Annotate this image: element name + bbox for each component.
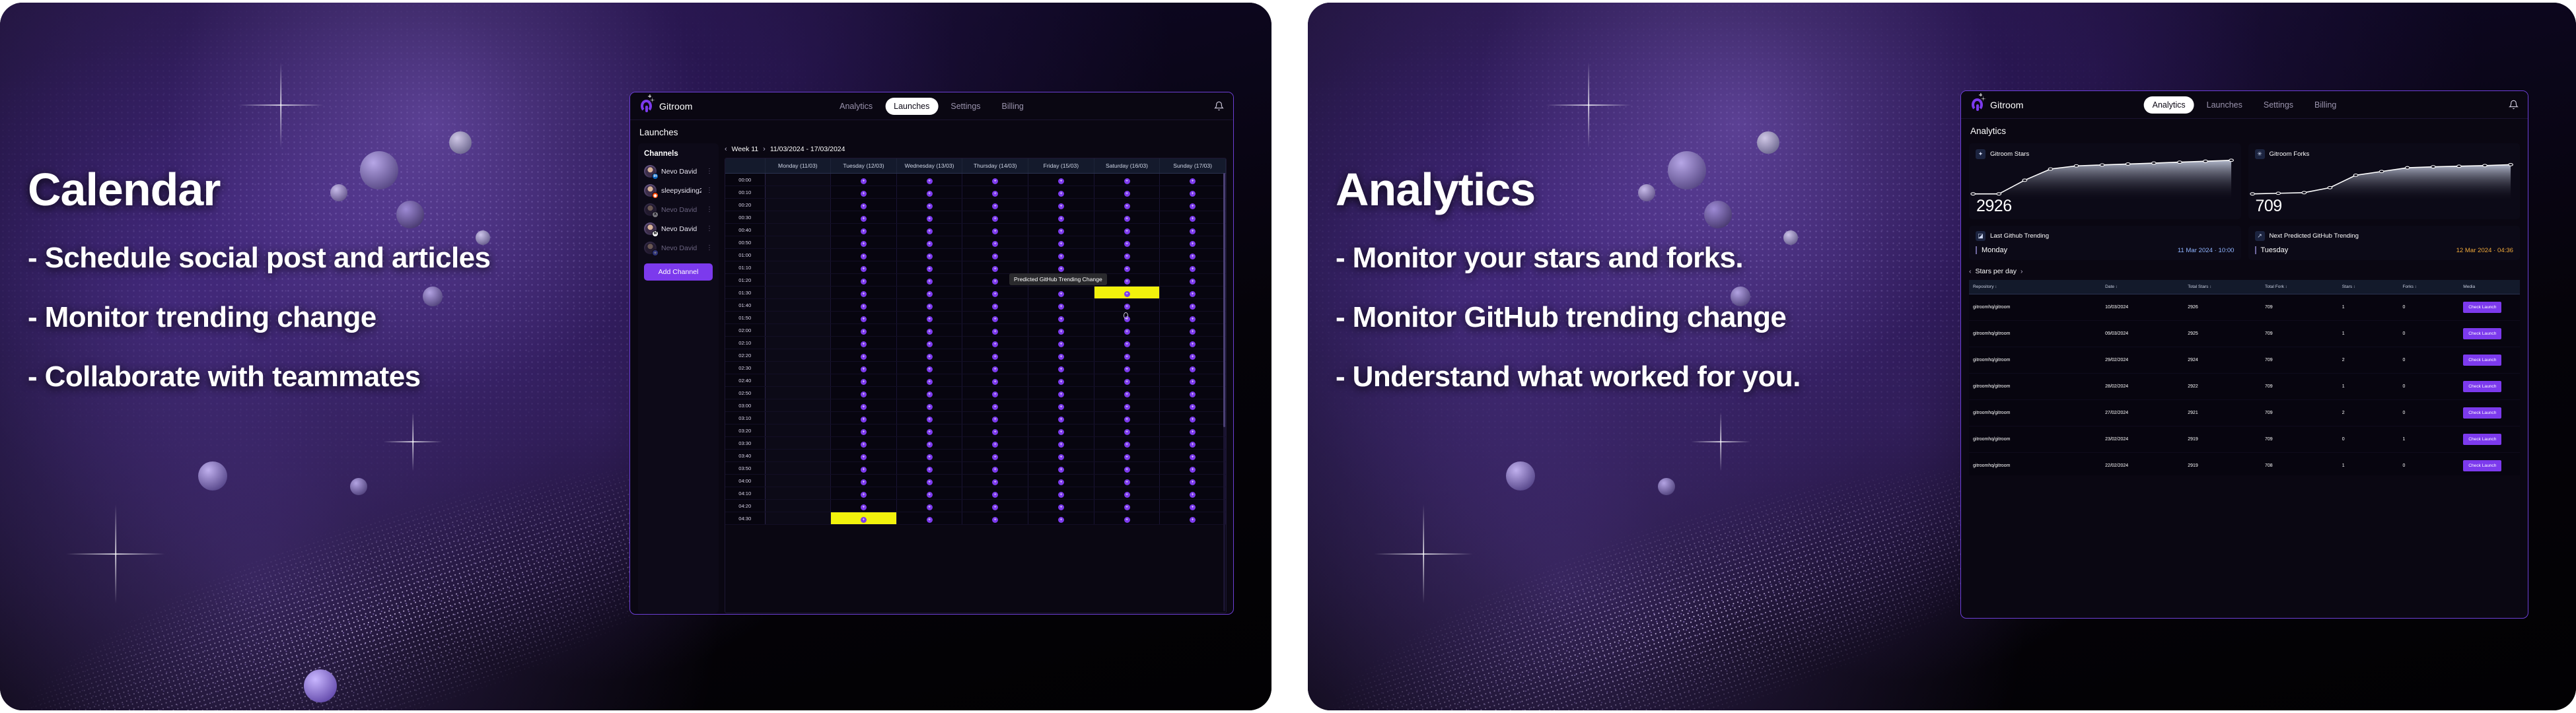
add-post-icon[interactable]: + [992, 479, 998, 485]
calendar-slot[interactable]: + [1160, 374, 1226, 387]
add-post-icon[interactable]: + [1124, 241, 1130, 247]
add-post-icon[interactable]: + [927, 391, 933, 397]
calendar-slot[interactable]: + [1094, 261, 1160, 274]
calendar-slot[interactable]: + [831, 399, 897, 412]
calendar-slot[interactable]: + [1028, 312, 1094, 324]
add-post-icon[interactable]: + [927, 492, 933, 498]
calendar-slot[interactable]: + [896, 374, 962, 387]
calendar-slot[interactable]: + [1160, 299, 1226, 312]
calendar-slot[interactable]: + [831, 437, 897, 450]
add-post-icon[interactable]: + [1190, 341, 1196, 347]
add-post-icon[interactable]: + [1190, 504, 1196, 510]
calendar-slot[interactable]: + [1028, 374, 1094, 387]
add-post-icon[interactable]: + [992, 216, 998, 222]
calendar-slot[interactable]: + [962, 362, 1028, 374]
calendar-slot[interactable]: + [1160, 349, 1226, 362]
calendar-slot[interactable]: + [962, 287, 1028, 299]
calendar-slot[interactable]: + [962, 211, 1028, 224]
calendar-slot[interactable]: + [1160, 475, 1226, 487]
calendar-slot[interactable]: + [1028, 236, 1094, 249]
add-post-icon[interactable]: + [1190, 517, 1196, 523]
add-post-icon[interactable]: + [861, 241, 867, 247]
channel-menu-icon[interactable]: ⋮ [706, 188, 713, 193]
add-channel-button[interactable]: Add Channel [644, 263, 713, 281]
add-post-icon[interactable]: + [1124, 454, 1130, 460]
calendar-slot[interactable]: + [1094, 324, 1160, 337]
add-post-icon[interactable]: + [992, 454, 998, 460]
calendar-slot[interactable]: + [831, 186, 897, 199]
add-post-icon[interactable]: + [861, 467, 867, 473]
calendar-slot[interactable]: + [962, 462, 1028, 475]
calendar-slot[interactable] [765, 349, 831, 362]
add-post-icon[interactable]: + [1124, 379, 1130, 385]
calendar-slot[interactable]: + [1160, 437, 1226, 450]
calendar-slot[interactable]: + [831, 312, 897, 324]
add-post-icon[interactable]: + [992, 467, 998, 473]
calendar-slot[interactable]: + [831, 249, 897, 261]
calendar-slot[interactable]: + [1094, 299, 1160, 312]
calendar-slot[interactable]: + [831, 261, 897, 274]
add-post-icon[interactable]: + [1058, 479, 1064, 485]
column-header-total-stars[interactable]: Total Stars ↕ [2184, 280, 2261, 294]
calendar-slot[interactable]: + [1160, 249, 1226, 261]
add-post-icon[interactable]: + [861, 366, 867, 372]
add-post-icon[interactable]: + [927, 479, 933, 485]
notifications-button[interactable] [2509, 100, 2519, 110]
calendar-slot[interactable]: + [896, 236, 962, 249]
add-post-icon[interactable]: + [1124, 329, 1130, 335]
calendar-slot[interactable]: + [1160, 312, 1226, 324]
add-post-icon[interactable]: + [1058, 203, 1064, 209]
add-post-icon[interactable]: + [861, 417, 867, 423]
column-header-stars[interactable]: Stars ↕ [2338, 280, 2399, 294]
add-post-icon[interactable]: + [1058, 216, 1064, 222]
add-post-icon[interactable]: + [1190, 429, 1196, 435]
add-post-icon[interactable]: + [1190, 291, 1196, 297]
calendar-slot[interactable]: + [896, 211, 962, 224]
calendar-slot[interactable]: + [831, 424, 897, 437]
calendar-slot[interactable]: + [896, 174, 962, 186]
calendar-slot[interactable]: + [962, 412, 1028, 424]
calendar-slot[interactable]: + [1160, 261, 1226, 274]
calendar-slot[interactable] [765, 312, 831, 324]
add-post-icon[interactable]: + [992, 379, 998, 385]
calendar-slot[interactable]: + [962, 186, 1028, 199]
calendar-slot[interactable]: + [1160, 274, 1226, 287]
calendar-slot[interactable] [765, 475, 831, 487]
add-post-icon[interactable]: + [1190, 266, 1196, 272]
calendar-slot[interactable]: + [1028, 450, 1094, 462]
calendar-slot[interactable] [765, 249, 831, 261]
add-post-icon[interactable]: + [992, 329, 998, 335]
add-post-icon[interactable]: + [861, 279, 867, 285]
add-post-icon[interactable]: + [927, 379, 933, 385]
calendar-slot[interactable]: + [1160, 399, 1226, 412]
add-post-icon[interactable]: + [1124, 279, 1130, 285]
calendar-slot[interactable] [765, 236, 831, 249]
calendar-slot[interactable] [765, 324, 831, 337]
add-post-icon[interactable]: + [1058, 417, 1064, 423]
calendar-slot[interactable]: + [896, 199, 962, 211]
calendar-slot[interactable]: + [831, 299, 897, 312]
add-post-icon[interactable]: + [1058, 304, 1064, 310]
chevron-left-icon[interactable]: ‹ [1969, 267, 1972, 275]
calendar-slot[interactable]: + [896, 475, 962, 487]
calendar-slot[interactable]: + [896, 487, 962, 500]
add-post-icon[interactable]: + [927, 291, 933, 297]
add-post-icon[interactable]: + [992, 228, 998, 234]
add-post-icon[interactable]: + [1124, 266, 1130, 272]
calendar-slot[interactable]: + [1160, 337, 1226, 349]
add-post-icon[interactable]: + [927, 279, 933, 285]
calendar-slot[interactable]: + [962, 249, 1028, 261]
add-post-icon[interactable]: + [927, 404, 933, 410]
add-post-icon[interactable]: + [1124, 203, 1130, 209]
calendar-slot[interactable] [765, 211, 831, 224]
calendar-slot[interactable]: + [962, 224, 1028, 236]
calendar-slot[interactable]: + [1094, 337, 1160, 349]
calendar-slot[interactable]: + [1094, 224, 1160, 236]
add-post-icon[interactable]: + [1124, 479, 1130, 485]
calendar-slot[interactable]: + [831, 174, 897, 186]
add-post-icon[interactable]: + [927, 266, 933, 272]
calendar-slot[interactable]: + [896, 261, 962, 274]
add-post-icon[interactable]: + [927, 316, 933, 322]
calendar-slot[interactable]: + [1160, 199, 1226, 211]
add-post-icon[interactable]: + [861, 254, 867, 259]
calendar-slot[interactable]: + [1160, 487, 1226, 500]
add-post-icon[interactable]: + [992, 366, 998, 372]
add-post-icon[interactable]: + [1190, 203, 1196, 209]
calendar-slot[interactable]: + [962, 312, 1028, 324]
add-post-icon[interactable]: + [992, 492, 998, 498]
add-post-icon[interactable]: + [927, 517, 933, 523]
calendar-slot[interactable]: + [1028, 362, 1094, 374]
add-post-icon[interactable]: + [861, 266, 867, 272]
add-post-icon[interactable]: + [861, 228, 867, 234]
calendar-slot[interactable]: + [831, 211, 897, 224]
add-post-icon[interactable]: + [1058, 517, 1064, 523]
add-post-icon[interactable]: + [1124, 391, 1130, 397]
add-post-icon[interactable]: + [1058, 404, 1064, 410]
add-post-icon[interactable]: + [927, 341, 933, 347]
add-post-icon[interactable]: + [1058, 492, 1064, 498]
add-post-icon[interactable]: + [992, 291, 998, 297]
calendar-slot[interactable]: + [1028, 186, 1094, 199]
calendar-slot[interactable]: + [896, 512, 962, 525]
calendar-slot[interactable]: + [831, 274, 897, 287]
calendar-slot[interactable]: + [1094, 437, 1160, 450]
calendar-slot[interactable]: + [1028, 475, 1094, 487]
calendar-slot[interactable]: + [896, 274, 962, 287]
calendar-slot[interactable]: + [1160, 387, 1226, 399]
add-post-icon[interactable]: + [927, 442, 933, 448]
calendar-slot[interactable] [765, 487, 831, 500]
add-post-icon[interactable]: + [1058, 442, 1064, 448]
calendar-slot[interactable]: + [962, 174, 1028, 186]
add-post-icon[interactable]: + [927, 228, 933, 234]
add-post-icon[interactable]: + [861, 391, 867, 397]
add-post-icon[interactable]: + [992, 417, 998, 423]
add-post-icon[interactable]: + [992, 391, 998, 397]
calendar-slot[interactable]: + [896, 362, 962, 374]
add-post-icon[interactable]: + [1124, 417, 1130, 423]
add-post-icon[interactable]: + [1190, 316, 1196, 322]
add-post-icon[interactable]: + [1190, 241, 1196, 247]
add-post-icon[interactable]: + [992, 254, 998, 259]
tab-settings[interactable]: Settings [2255, 96, 2302, 114]
column-header-repository[interactable]: Repository ↕ [1969, 280, 2101, 294]
calendar-slot[interactable]: + [1028, 287, 1094, 299]
calendar-slot[interactable]: + [962, 424, 1028, 437]
calendar-slot[interactable]: + [831, 512, 897, 525]
calendar-slot[interactable]: + [962, 324, 1028, 337]
notifications-button[interactable] [1214, 101, 1224, 111]
calendar-slot[interactable] [765, 174, 831, 186]
calendar-slot[interactable]: + [1094, 387, 1160, 399]
calendar-slot[interactable]: + [896, 324, 962, 337]
calendar-slot[interactable] [765, 186, 831, 199]
add-post-icon[interactable]: + [861, 291, 867, 297]
add-post-icon[interactable]: + [992, 404, 998, 410]
add-post-icon[interactable]: + [1058, 241, 1064, 247]
add-post-icon[interactable]: + [927, 366, 933, 372]
calendar-slot[interactable]: + [1028, 199, 1094, 211]
calendar-slot[interactable]: + [962, 487, 1028, 500]
calendar-slot[interactable]: + [1094, 236, 1160, 249]
add-post-icon[interactable]: + [992, 279, 998, 285]
tab-launches[interactable]: Launches [2198, 96, 2251, 114]
add-post-icon[interactable]: + [992, 304, 998, 310]
add-post-icon[interactable]: + [861, 203, 867, 209]
add-post-icon[interactable]: + [861, 454, 867, 460]
calendar-slot[interactable]: + [1160, 424, 1226, 437]
add-post-icon[interactable]: + [992, 517, 998, 523]
calendar-slot[interactable]: + [896, 437, 962, 450]
add-post-icon[interactable]: + [1124, 191, 1130, 197]
calendar-slot[interactable]: + [1028, 487, 1094, 500]
check-launch-button[interactable]: Check Launch [2463, 407, 2501, 419]
add-post-icon[interactable]: + [1058, 429, 1064, 435]
check-launch-button[interactable]: Check Launch [2463, 355, 2501, 366]
calendar-slot[interactable]: + [831, 450, 897, 462]
calendar-slot[interactable]: + [962, 299, 1028, 312]
calendar-slot[interactable] [765, 512, 831, 525]
calendar-slot[interactable]: + [1160, 512, 1226, 525]
calendar-slot[interactable]: + [896, 186, 962, 199]
calendar-slot[interactable]: + [831, 487, 897, 500]
calendar-slot[interactable]: + [1094, 374, 1160, 387]
add-post-icon[interactable]: + [1124, 178, 1130, 184]
tab-launches[interactable]: Launches [885, 98, 938, 115]
tab-billing[interactable]: Billing [2306, 96, 2345, 114]
calendar-slot[interactable]: + [896, 462, 962, 475]
calendar-slot[interactable]: + [896, 399, 962, 412]
calendar-slot[interactable] [765, 424, 831, 437]
add-post-icon[interactable]: + [927, 354, 933, 360]
channel-item-reddit[interactable]: ◉ sleepysiding22 ⋮ [644, 184, 713, 197]
add-post-icon[interactable]: + [1058, 391, 1064, 397]
calendar-slot[interactable] [765, 337, 831, 349]
calendar-slot[interactable]: + [831, 337, 897, 349]
calendar-slot[interactable]: + [831, 412, 897, 424]
add-post-icon[interactable]: + [1124, 291, 1130, 297]
calendar-slot[interactable]: + [831, 462, 897, 475]
calendar-slot[interactable]: + [831, 387, 897, 399]
add-post-icon[interactable]: + [927, 203, 933, 209]
calendar-slot[interactable]: + [896, 337, 962, 349]
add-post-icon[interactable]: + [1124, 366, 1130, 372]
calendar-slot[interactable]: + [1094, 487, 1160, 500]
add-post-icon[interactable]: + [992, 266, 998, 272]
tab-analytics[interactable]: Analytics [831, 98, 881, 115]
add-post-icon[interactable]: + [1058, 504, 1064, 510]
calendar-slot[interactable]: + [962, 199, 1028, 211]
add-post-icon[interactable]: + [992, 241, 998, 247]
add-post-icon[interactable]: + [1190, 366, 1196, 372]
add-post-icon[interactable]: + [861, 379, 867, 385]
calendar-slot[interactable]: + [896, 287, 962, 299]
calendar-slot[interactable]: + [962, 399, 1028, 412]
add-post-icon[interactable]: + [1190, 492, 1196, 498]
add-post-icon[interactable]: + [861, 504, 867, 510]
add-post-icon[interactable]: + [1124, 492, 1130, 498]
add-post-icon[interactable]: + [1058, 379, 1064, 385]
add-post-icon[interactable]: + [861, 329, 867, 335]
add-post-icon[interactable]: + [861, 304, 867, 310]
calendar-slot[interactable] [765, 462, 831, 475]
calendar-slot[interactable]: + [1028, 299, 1094, 312]
calendar-slot[interactable] [765, 274, 831, 287]
calendar-slot[interactable]: + [1094, 287, 1160, 299]
add-post-icon[interactable]: + [1190, 404, 1196, 410]
add-post-icon[interactable]: + [1124, 504, 1130, 510]
calendar-slot[interactable]: + [1028, 512, 1094, 525]
add-post-icon[interactable]: + [861, 442, 867, 448]
add-post-icon[interactable]: + [1190, 216, 1196, 222]
check-launch-button[interactable]: Check Launch [2463, 381, 2501, 392]
calendar-slot[interactable]: + [896, 450, 962, 462]
tab-settings[interactable]: Settings [942, 98, 989, 115]
add-post-icon[interactable]: + [861, 191, 867, 197]
add-post-icon[interactable]: + [1190, 191, 1196, 197]
calendar-slot[interactable]: + [831, 324, 897, 337]
calendar-slot[interactable] [765, 374, 831, 387]
add-post-icon[interactable]: + [861, 178, 867, 184]
calendar-slot[interactable] [765, 387, 831, 399]
add-post-icon[interactable]: + [1058, 178, 1064, 184]
calendar-slot[interactable]: + [1094, 362, 1160, 374]
calendar-slot[interactable]: + [962, 512, 1028, 525]
channel-item-x[interactable]: X Nevo David ⋮ [644, 203, 713, 216]
calendar-slot[interactable]: + [1094, 211, 1160, 224]
calendar-slot[interactable]: + [896, 224, 962, 236]
add-post-icon[interactable]: + [992, 203, 998, 209]
add-post-icon[interactable]: + [927, 191, 933, 197]
calendar-slot[interactable]: + [896, 312, 962, 324]
calendar-slot[interactable]: + [1028, 174, 1094, 186]
add-post-icon[interactable]: + [1190, 304, 1196, 310]
add-post-icon[interactable]: + [1124, 354, 1130, 360]
add-post-icon[interactable]: + [992, 354, 998, 360]
add-post-icon[interactable]: + [927, 216, 933, 222]
calendar-slot[interactable] [765, 287, 831, 299]
add-post-icon[interactable]: + [1190, 454, 1196, 460]
calendar-slot[interactable]: + [896, 249, 962, 261]
calendar-slot[interactable]: + [1160, 450, 1226, 462]
add-post-icon[interactable]: + [1124, 404, 1130, 410]
calendar-scrollbar[interactable] [1223, 173, 1225, 611]
calendar-slot[interactable]: + [1160, 287, 1226, 299]
calendar-slot[interactable]: + [896, 412, 962, 424]
channel-menu-icon[interactable]: ⋮ [706, 226, 713, 231]
add-post-icon[interactable]: + [861, 354, 867, 360]
channel-item-mastodon[interactable]: M Nevo David ⋮ [644, 222, 713, 235]
add-post-icon[interactable]: + [992, 191, 998, 197]
calendar-slot[interactable]: + [896, 349, 962, 362]
calendar-slot[interactable]: + [1028, 224, 1094, 236]
chevron-right-icon[interactable]: › [763, 145, 766, 153]
add-post-icon[interactable]: + [1190, 442, 1196, 448]
add-post-icon[interactable]: + [1058, 366, 1064, 372]
calendar-slot[interactable]: + [1028, 211, 1094, 224]
calendar-slot[interactable]: + [1160, 174, 1226, 186]
add-post-icon[interactable]: + [1190, 329, 1196, 335]
calendar-slot[interactable]: + [1094, 174, 1160, 186]
calendar-slot[interactable]: + [962, 349, 1028, 362]
add-post-icon[interactable]: + [1190, 254, 1196, 259]
add-post-icon[interactable]: + [1190, 391, 1196, 397]
add-post-icon[interactable]: + [1058, 228, 1064, 234]
calendar-slot[interactable]: + [962, 261, 1028, 274]
calendar-slot[interactable]: + [1094, 399, 1160, 412]
calendar-slot[interactable]: + [1094, 475, 1160, 487]
calendar-slot[interactable]: + [896, 500, 962, 512]
add-post-icon[interactable]: + [992, 341, 998, 347]
add-post-icon[interactable]: + [927, 429, 933, 435]
add-post-icon[interactable]: + [1058, 341, 1064, 347]
calendar-slot[interactable]: + [1160, 462, 1226, 475]
calendar-slot[interactable]: + [1160, 186, 1226, 199]
add-post-icon[interactable]: + [992, 429, 998, 435]
calendar-slot[interactable]: + [962, 450, 1028, 462]
calendar-slot[interactable]: + [962, 437, 1028, 450]
calendar-slot[interactable]: + [1028, 387, 1094, 399]
channel-item-discord[interactable]: ✦ Nevo David ⋮ [644, 242, 713, 254]
calendar-slot[interactable]: + [1028, 349, 1094, 362]
calendar-slot[interactable]: + [962, 337, 1028, 349]
add-post-icon[interactable]: + [1124, 467, 1130, 473]
chevron-right-icon[interactable]: › [2021, 267, 2023, 275]
calendar-slot[interactable]: + [1094, 500, 1160, 512]
add-post-icon[interactable]: + [1190, 279, 1196, 285]
calendar-slot[interactable]: + [1094, 450, 1160, 462]
add-post-icon[interactable]: + [992, 504, 998, 510]
calendar-slot[interactable]: + [1028, 249, 1094, 261]
calendar-slot[interactable]: + [831, 199, 897, 211]
add-post-icon[interactable]: + [1058, 316, 1064, 322]
column-header-date[interactable]: Date ↕ [2101, 280, 2184, 294]
calendar-slot[interactable]: + [1094, 349, 1160, 362]
column-header-forks[interactable]: Forks ↕ [2398, 280, 2459, 294]
add-post-icon[interactable]: + [1190, 467, 1196, 473]
add-post-icon[interactable]: + [1190, 354, 1196, 360]
add-post-icon[interactable]: + [927, 467, 933, 473]
add-post-icon[interactable]: + [1190, 479, 1196, 485]
calendar-slot[interactable]: + [896, 424, 962, 437]
add-post-icon[interactable]: + [1124, 517, 1130, 523]
channel-menu-icon[interactable]: ⋮ [706, 169, 713, 174]
